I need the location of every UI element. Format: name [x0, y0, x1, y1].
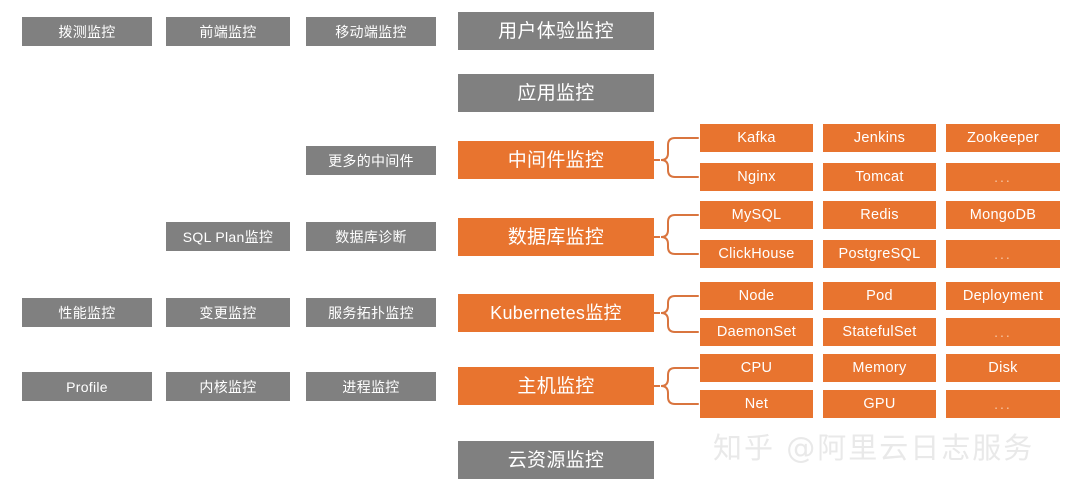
- leaf-box-label: MySQL: [732, 208, 782, 223]
- leaf-box-label: Nginx: [737, 170, 776, 185]
- spine-box[interactable]: 云资源监控: [458, 441, 654, 479]
- left-chip[interactable]: 移动端监控: [306, 17, 436, 46]
- leaf-box-label: Deployment: [963, 289, 1043, 304]
- left-chip-label: Profile: [66, 380, 108, 394]
- leaf-box[interactable]: ...: [946, 163, 1060, 191]
- leaf-box[interactable]: ClickHouse: [700, 240, 813, 268]
- leaf-box-label: Jenkins: [854, 131, 905, 146]
- leaf-box[interactable]: GPU: [823, 390, 936, 418]
- leaf-box[interactable]: MySQL: [700, 201, 813, 229]
- left-chip[interactable]: 更多的中间件: [306, 146, 436, 175]
- leaf-box[interactable]: Node: [700, 282, 813, 310]
- leaf-box[interactable]: PostgreSQL: [823, 240, 936, 268]
- leaf-box[interactable]: Redis: [823, 201, 936, 229]
- left-chip-label: 数据库诊断: [335, 230, 407, 244]
- leaf-box[interactable]: Tomcat: [823, 163, 936, 191]
- leaf-box-label: StatefulSet: [842, 325, 916, 340]
- watermark: 知乎 @阿里云日志服务: [713, 425, 1034, 467]
- leaf-box-label: ClickHouse: [718, 247, 794, 262]
- left-chip[interactable]: 数据库诊断: [306, 222, 436, 251]
- leaf-box[interactable]: Jenkins: [823, 124, 936, 152]
- spine-box-label: 主机监控: [517, 377, 594, 396]
- leaf-box-label: Redis: [860, 208, 899, 223]
- left-chip-label: 内核监控: [199, 380, 256, 394]
- leaf-box[interactable]: Deployment: [946, 282, 1060, 310]
- left-chip-label: 变更监控: [199, 306, 256, 320]
- leaf-box-label: PostgreSQL: [839, 247, 921, 262]
- left-chip[interactable]: 进程监控: [306, 372, 436, 401]
- left-chip[interactable]: Profile: [22, 372, 152, 401]
- leaf-box-label: MongoDB: [970, 208, 1037, 223]
- spine-box[interactable]: Kubernetes监控: [458, 294, 654, 332]
- leaf-box-label: Zookeeper: [967, 131, 1039, 146]
- leaf-box[interactable]: ...: [946, 240, 1060, 268]
- leaf-box[interactable]: Net: [700, 390, 813, 418]
- left-chip-label: 服务拓扑监控: [328, 306, 414, 320]
- spine-box-label: 数据库监控: [508, 228, 605, 247]
- leaf-box-label: Kafka: [737, 131, 776, 146]
- leaf-box-label: Node: [739, 289, 775, 304]
- left-chip-label: 移动端监控: [335, 25, 407, 39]
- diagram-canvas: 拨测监控前端监控移动端监控更多的中间件SQL Plan监控数据库诊断性能监控变更…: [0, 0, 1080, 491]
- leaf-box-label: DaemonSet: [717, 325, 796, 340]
- left-chip[interactable]: 变更监控: [166, 298, 290, 327]
- leaf-box[interactable]: ...: [946, 318, 1060, 346]
- spine-box[interactable]: 应用监控: [458, 74, 654, 112]
- leaf-box[interactable]: StatefulSet: [823, 318, 936, 346]
- leaf-box[interactable]: MongoDB: [946, 201, 1060, 229]
- leaf-box[interactable]: ...: [946, 390, 1060, 418]
- leaf-box-label: GPU: [863, 397, 895, 412]
- spine-box-label: 应用监控: [517, 84, 594, 103]
- left-chip-label: 更多的中间件: [328, 154, 414, 168]
- leaf-box-label: ...: [994, 325, 1012, 339]
- left-chip-label: 拨测监控: [58, 25, 115, 39]
- left-chip-label: 前端监控: [199, 25, 256, 39]
- leaf-box[interactable]: Memory: [823, 354, 936, 382]
- spine-box[interactable]: 用户体验监控: [458, 12, 654, 50]
- leaf-box-label: ...: [994, 170, 1012, 184]
- leaf-box-label: Pod: [866, 289, 893, 304]
- left-chip[interactable]: 服务拓扑监控: [306, 298, 436, 327]
- leaf-box-label: Net: [745, 397, 768, 412]
- left-chip[interactable]: 性能监控: [22, 298, 152, 327]
- spine-box-label: 云资源监控: [508, 451, 605, 470]
- spine-box-label: Kubernetes监控: [490, 304, 622, 322]
- leaf-box[interactable]: Pod: [823, 282, 936, 310]
- left-chip[interactable]: SQL Plan监控: [166, 222, 290, 251]
- spine-box[interactable]: 数据库监控: [458, 218, 654, 256]
- leaf-box-label: ...: [994, 247, 1012, 261]
- leaf-box[interactable]: Nginx: [700, 163, 813, 191]
- leaf-box[interactable]: DaemonSet: [700, 318, 813, 346]
- left-chip-label: SQL Plan监控: [183, 230, 273, 244]
- left-chip[interactable]: 前端监控: [166, 17, 290, 46]
- left-chip[interactable]: 拨测监控: [22, 17, 152, 46]
- leaf-box-label: Memory: [852, 361, 906, 376]
- leaf-box[interactable]: Disk: [946, 354, 1060, 382]
- left-chip[interactable]: 内核监控: [166, 372, 290, 401]
- leaf-box-label: ...: [994, 397, 1012, 411]
- leaf-box[interactable]: Zookeeper: [946, 124, 1060, 152]
- left-chip-label: 性能监控: [58, 306, 115, 320]
- left-chip-label: 进程监控: [342, 380, 399, 394]
- leaf-box-label: CPU: [741, 361, 773, 376]
- leaf-box-label: Tomcat: [855, 170, 904, 185]
- spine-box-label: 用户体验监控: [498, 22, 614, 41]
- leaf-box-label: Disk: [988, 361, 1017, 376]
- leaf-box[interactable]: CPU: [700, 354, 813, 382]
- spine-box[interactable]: 中间件监控: [458, 141, 654, 179]
- spine-box-label: 中间件监控: [508, 151, 605, 170]
- spine-box[interactable]: 主机监控: [458, 367, 654, 405]
- leaf-box[interactable]: Kafka: [700, 124, 813, 152]
